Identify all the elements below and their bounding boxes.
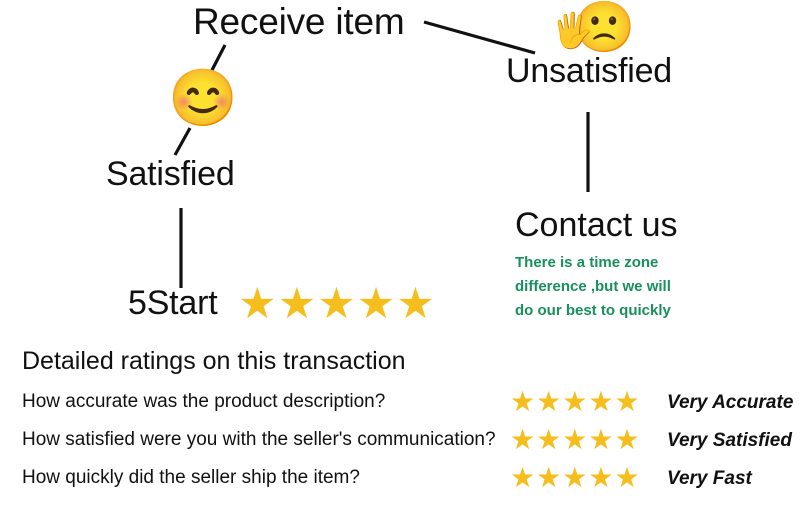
star-icon: ★: [510, 426, 535, 454]
star-icon: ★: [357, 283, 396, 326]
star-icon: ★: [562, 426, 587, 454]
star-icon: ★: [614, 388, 639, 416]
contact-note: There is a time zone difference ,but we …: [515, 251, 745, 323]
five-star-rating-communication: ★ ★ ★ ★ ★: [510, 426, 641, 454]
rating-value: Very Accurate: [667, 392, 793, 414]
star-icon: ★: [562, 464, 587, 492]
contact-note-line: do our best to quickly: [515, 299, 745, 323]
rating-question: How quickly did the seller ship the item…: [22, 466, 360, 490]
star-icon: ★: [278, 283, 317, 326]
node-unsatisfied: Unsatisfied: [506, 52, 672, 90]
rating-row: How satisfied were you with the seller's…: [22, 426, 782, 456]
rating-row: How accurate was the product description…: [22, 388, 782, 418]
star-icon: ★: [238, 283, 277, 326]
rating-question: How satisfied were you with the seller's…: [22, 428, 496, 452]
star-icon: ★: [396, 283, 435, 326]
star-icon: ★: [588, 388, 613, 416]
contact-note-line: difference ,but we will: [515, 275, 745, 299]
rating-value: Very Satisfied: [667, 430, 792, 452]
five-star-rating-accuracy: ★ ★ ★ ★ ★: [510, 388, 641, 416]
smiling-face-with-smiling-eyes-emoji: 😊: [168, 70, 238, 126]
contact-note-line: There is a time zone: [515, 251, 745, 275]
star-icon: ★: [317, 283, 356, 326]
star-icon: ★: [536, 388, 561, 416]
star-icon: ★: [510, 388, 535, 416]
flowchart-canvas: Receive item 😊 Satisfied 5Start ★ ★ ★ ★ …: [0, 0, 800, 512]
star-icon: ★: [510, 464, 535, 492]
five-star-rating-big: ★ ★ ★ ★ ★: [238, 283, 436, 326]
star-icon: ★: [562, 388, 587, 416]
star-icon: ★: [588, 464, 613, 492]
five-star-rating-shipping: ★ ★ ★ ★ ★: [510, 464, 641, 492]
node-satisfied: Satisfied: [106, 155, 235, 193]
star-icon: ★: [614, 426, 639, 454]
raised-hand-emoji: 🖐: [551, 14, 593, 48]
detailed-ratings-heading: Detailed ratings on this transaction: [22, 347, 406, 375]
node-receive-item: Receive item: [193, 2, 404, 42]
rating-value: Very Fast: [667, 468, 752, 490]
star-icon: ★: [588, 426, 613, 454]
star-icon: ★: [614, 464, 639, 492]
node-contact-us: Contact us: [515, 206, 678, 244]
star-icon: ★: [536, 464, 561, 492]
rating-row: How quickly did the seller ship the item…: [22, 464, 782, 494]
rating-question: How accurate was the product description…: [22, 390, 385, 414]
star-icon: ★: [536, 426, 561, 454]
node-5star-label: 5Start: [128, 284, 218, 322]
connector-root-to-unsatisfied: [424, 22, 535, 53]
connector-satisfied-emoji-to-label: [175, 128, 190, 155]
